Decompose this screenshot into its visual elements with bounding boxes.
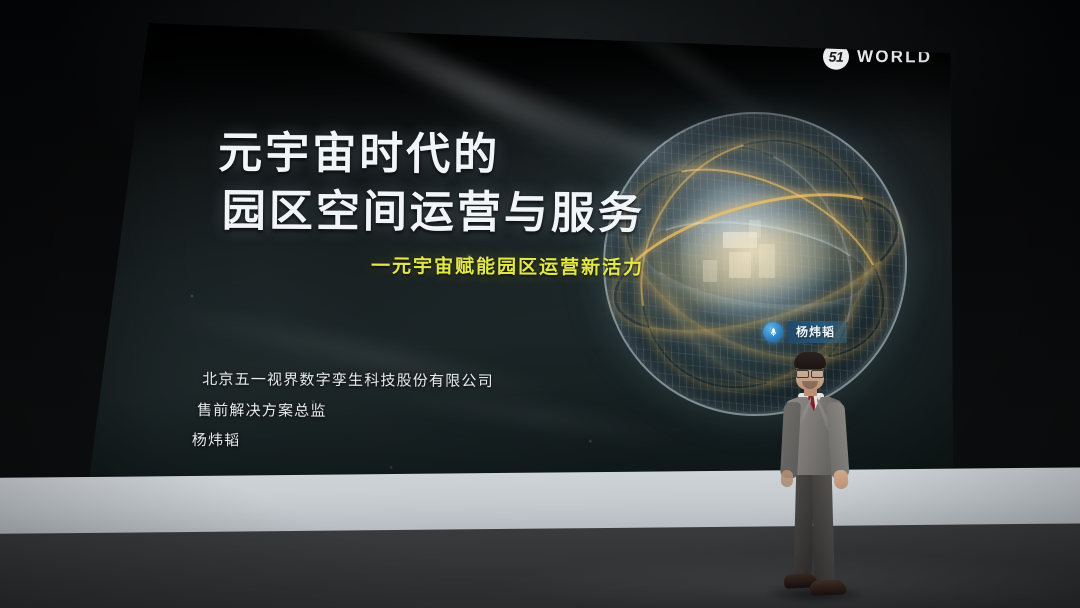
presenter-avatar[interactable]: [760, 352, 878, 598]
avatar-hand-right: [833, 469, 849, 489]
slide-credits: 北京五一视界数字孪生科技股份有限公司 售前解决方案总监 杨炜韬: [192, 365, 494, 459]
speaker-name-label: 杨炜韬: [788, 321, 847, 343]
slide-title-line-1: 元宇宙时代的: [218, 125, 645, 186]
credit-role: 售前解决方案总监: [197, 396, 494, 429]
presentation-scene: 元宇宙时代的 园区空间运营与服务 一元宇宙赋能园区运营新活力 北京五一视界数字孪…: [0, 0, 1080, 608]
microphone-icon: [763, 322, 783, 342]
slide-subtitle: 一元宇宙赋能园区运营新活力: [371, 251, 644, 280]
credit-company: 北京五一视界数字孪生科技股份有限公司: [202, 365, 494, 398]
slide-title-line-2: 园区空间运营与服务: [222, 183, 645, 244]
slide-title: 元宇宙时代的 园区空间运营与服务: [218, 125, 646, 244]
core-block: [703, 260, 717, 282]
globe-arc-glow: [619, 199, 886, 322]
core-block: [759, 244, 775, 278]
credit-name: 杨炜韬: [192, 426, 494, 459]
avatar-hair: [794, 352, 826, 369]
speaker-nameplate[interactable]: 杨炜韬: [763, 321, 847, 343]
avatar-shoe-right: [810, 579, 847, 595]
avatar-leg-right: [811, 460, 834, 582]
globe-core-glow: [681, 182, 831, 322]
core-block: [749, 220, 761, 238]
avatar-hand-left: [781, 470, 793, 487]
glasses-icon: [795, 369, 825, 376]
stage-floor: [0, 523, 1080, 608]
core-block: [729, 252, 751, 278]
